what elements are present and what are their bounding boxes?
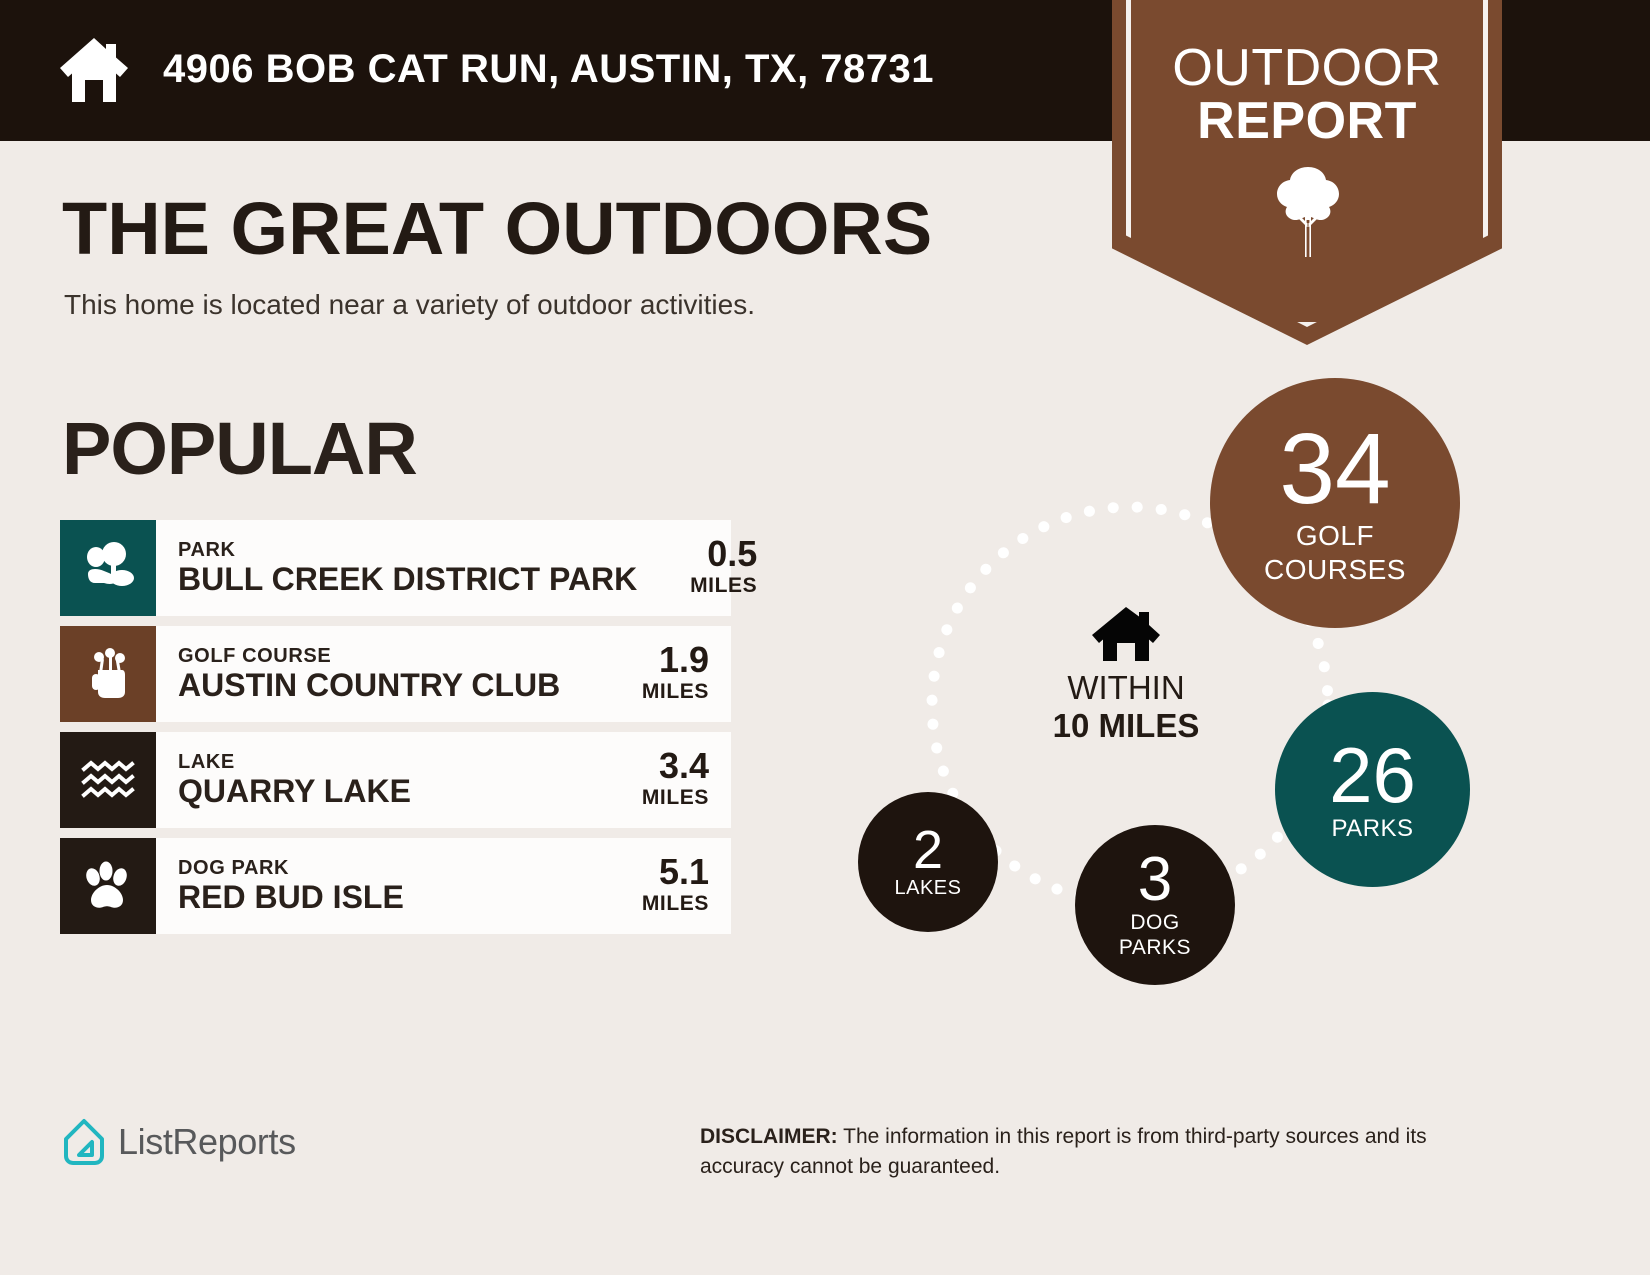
lake-tile xyxy=(60,732,156,828)
bubble-golf-courses: 34 GOLF COURSES xyxy=(1210,378,1460,628)
bubble-parks-label: PARKS xyxy=(1331,816,1413,841)
dogpark-tile xyxy=(60,838,156,934)
bubble-lakes: 2 LAKES xyxy=(858,792,998,932)
listreports-logo[interactable]: ListReports xyxy=(62,1118,296,1166)
diagram-center-label: WITHIN 10 MILES xyxy=(1016,605,1236,745)
bubble-dog-parks: 3 DOG PARKS xyxy=(1075,825,1235,985)
listreports-house-icon xyxy=(62,1118,106,1166)
disclaimer-label: DISCLAIMER: xyxy=(700,1125,838,1148)
bubble-golf-label-2: COURSES xyxy=(1264,555,1406,584)
park-tile xyxy=(60,520,156,616)
property-address: 4906 BOB CAT RUN, AUSTIN, TX, 78731 xyxy=(163,47,934,92)
golf-tile xyxy=(60,626,156,722)
golf-bag-icon xyxy=(80,646,136,702)
list-item-unit: MILES xyxy=(642,890,709,917)
bubble-lakes-value: 2 xyxy=(913,825,943,876)
list-item-name: RED BUD ISLE xyxy=(178,880,589,915)
disclaimer: DISCLAIMER: The information in this repo… xyxy=(700,1122,1510,1183)
badge-title-line1: OUTDOOR xyxy=(1112,42,1502,94)
list-item-unit: MILES xyxy=(690,572,757,599)
bubble-parks: 26 PARKS xyxy=(1275,692,1470,887)
list-item-category: PARK xyxy=(178,539,637,562)
bubble-golf-value: 34 xyxy=(1279,422,1390,517)
list-item[interactable]: GOLF COURSE AUSTIN COUNTRY CLUB 1.9 MILE… xyxy=(60,626,731,722)
popular-list: PARK BULL CREEK DISTRICT PARK 0.5 MILES xyxy=(60,520,731,944)
tree-icon xyxy=(1272,165,1344,260)
bubble-parks-value: 26 xyxy=(1329,738,1416,812)
list-item-distance: 5.1 xyxy=(659,854,709,890)
park-trees-icon xyxy=(80,540,136,596)
list-item-name: BULL CREEK DISTRICT PARK xyxy=(178,562,637,597)
page-subtitle: This home is located near a variety of o… xyxy=(64,288,755,322)
page-title: THE GREAT OUTDOORS xyxy=(62,192,932,266)
within-10-miles-diagram: 34 GOLF COURSES 26 PARKS 3 DOG PARKS 2 L… xyxy=(820,360,1520,1040)
list-item-unit: MILES xyxy=(642,784,709,811)
home-icon xyxy=(58,36,130,104)
list-item-distance: 1.9 xyxy=(659,642,709,678)
list-item-unit: MILES xyxy=(642,678,709,705)
list-item[interactable]: LAKE QUARRY LAKE 3.4 MILES xyxy=(60,732,731,828)
water-waves-icon xyxy=(80,760,136,800)
list-item-category: DOG PARK xyxy=(178,857,589,880)
list-item-distance: 0.5 xyxy=(707,536,757,572)
list-item-distance: 3.4 xyxy=(659,748,709,784)
paw-print-icon xyxy=(82,860,134,912)
badge-title-line2: REPORT xyxy=(1112,95,1502,147)
center-label-line2: 10 MILES xyxy=(1016,707,1236,745)
bubble-dog-value: 3 xyxy=(1138,851,1172,910)
list-item-name: AUSTIN COUNTRY CLUB xyxy=(178,668,589,703)
outdoor-report-infographic: 4906 BOB CAT RUN, AUSTIN, TX, 78731 OUTD… xyxy=(0,0,1650,1275)
section-title-popular: POPULAR xyxy=(62,412,417,486)
list-item-category: GOLF COURSE xyxy=(178,645,589,668)
list-item[interactable]: DOG PARK RED BUD ISLE 5.1 MILES xyxy=(60,838,731,934)
bubble-dog-label-2: PARKS xyxy=(1119,937,1191,959)
bubble-lakes-label: LAKES xyxy=(895,878,962,899)
list-item-name: QUARRY LAKE xyxy=(178,774,589,809)
list-item-category: LAKE xyxy=(178,751,589,774)
bubble-golf-label-1: GOLF xyxy=(1296,521,1374,550)
center-label-line1: WITHIN xyxy=(1016,669,1236,707)
home-icon xyxy=(1090,605,1162,663)
listreports-brand-text: ListReports xyxy=(118,1121,296,1163)
bubble-dog-label-1: DOG xyxy=(1130,912,1179,934)
list-item[interactable]: PARK BULL CREEK DISTRICT PARK 0.5 MILES xyxy=(60,520,731,616)
